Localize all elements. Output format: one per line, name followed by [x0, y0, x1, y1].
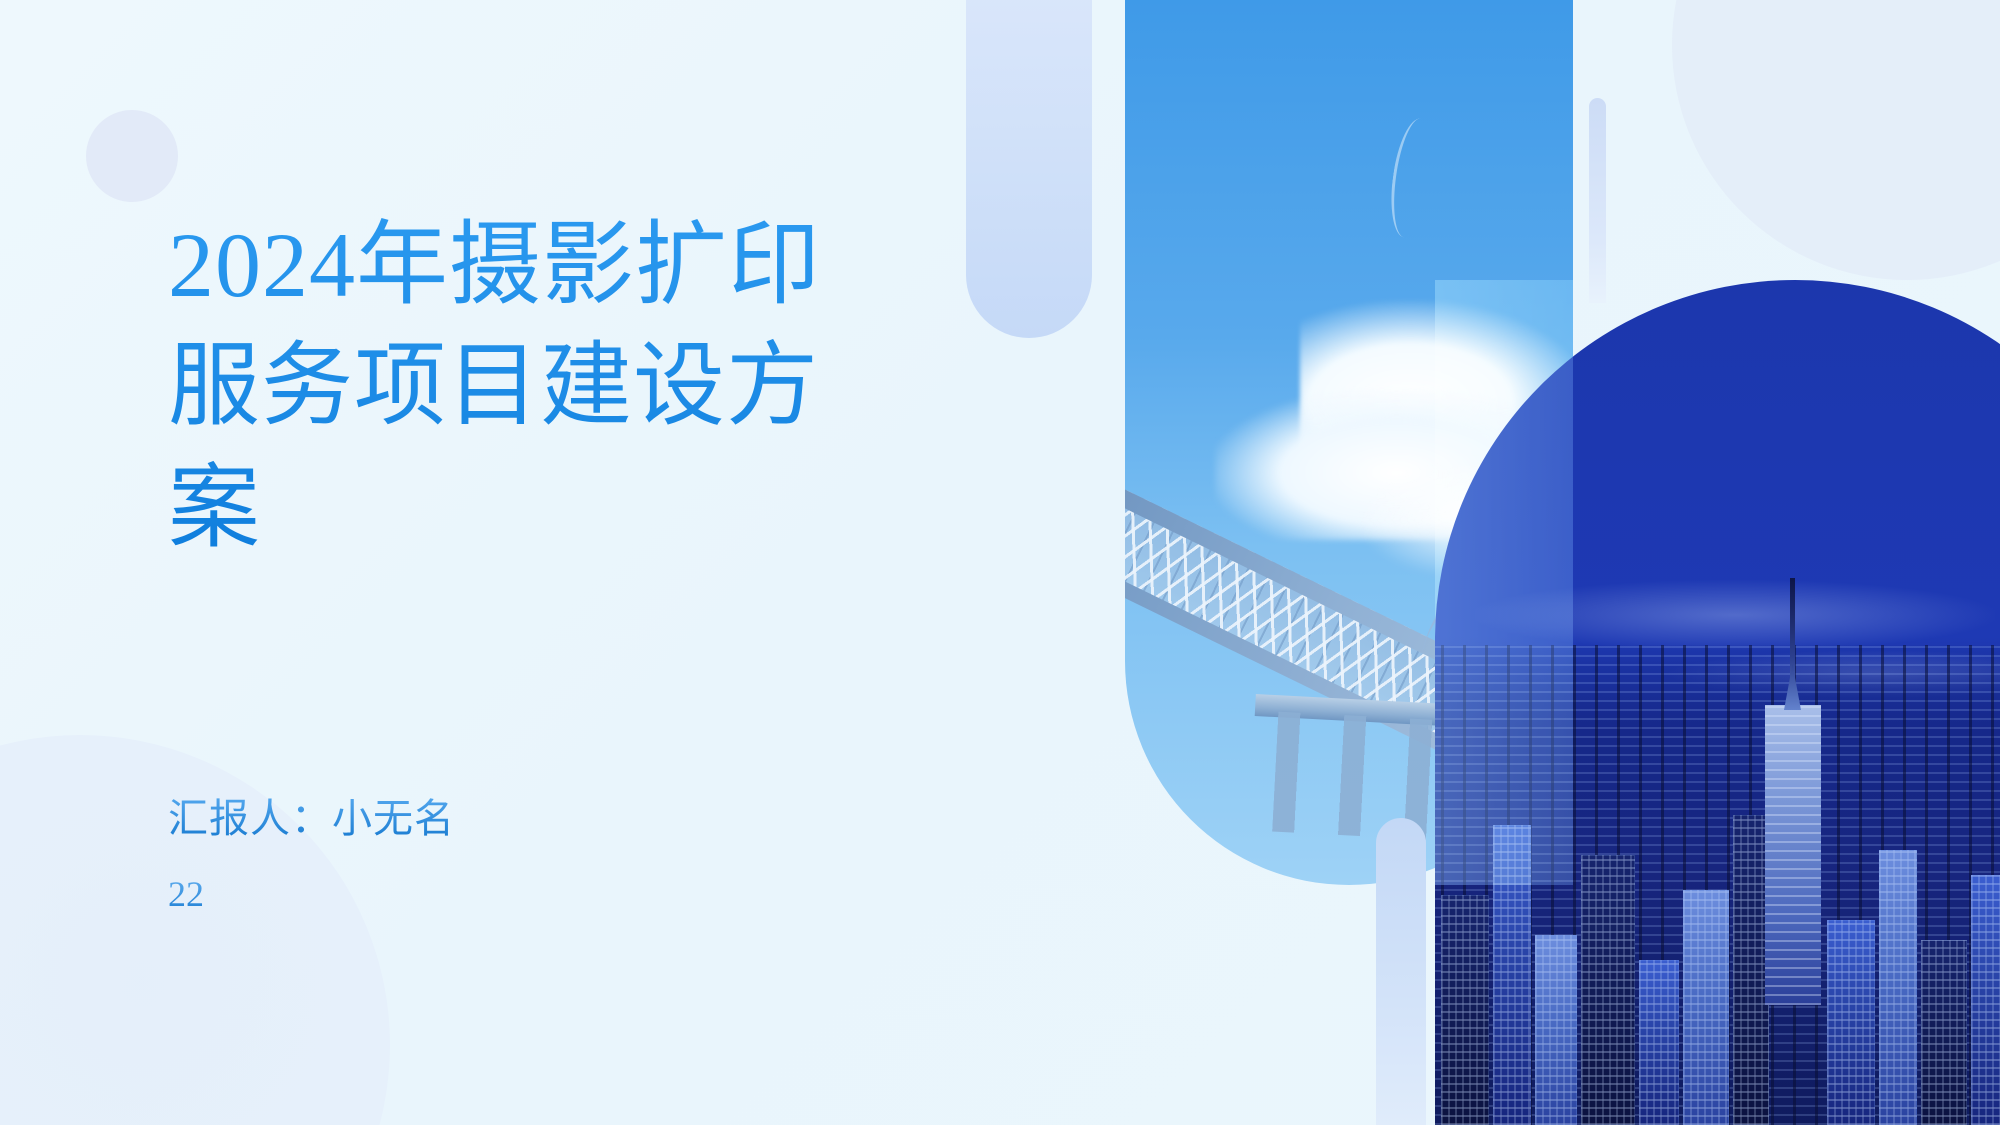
- rounded-bar-main-icon: [966, 0, 1092, 338]
- title-block: 2024年摄影扩印服务项目建设方案: [168, 205, 868, 569]
- city-building-cluster: [1435, 695, 2000, 1125]
- presenter-label: 汇报人：小无名: [168, 795, 455, 843]
- tower-spire-icon: [1790, 578, 1795, 710]
- cloud-wisp-icon: [1475, 580, 1995, 650]
- rounded-bar-small-icon: [1376, 818, 1426, 1125]
- subtitle-block: 汇报人：小无名 22: [168, 795, 455, 916]
- year-label: 22: [168, 873, 455, 916]
- decorative-circle-top-left-icon: [86, 110, 178, 202]
- presentation-slide: 2024年摄影扩印服务项目建设方案 汇报人：小无名 22: [0, 0, 2000, 1125]
- city-skyline-photo: [1435, 0, 2000, 1125]
- slide-title: 2024年摄影扩印服务项目建设方案: [168, 205, 868, 569]
- landmark-tower: [1765, 705, 1821, 1005]
- rounded-bar-thin-icon: [1589, 98, 1606, 303]
- city-oval-mask: [1435, 280, 2000, 1125]
